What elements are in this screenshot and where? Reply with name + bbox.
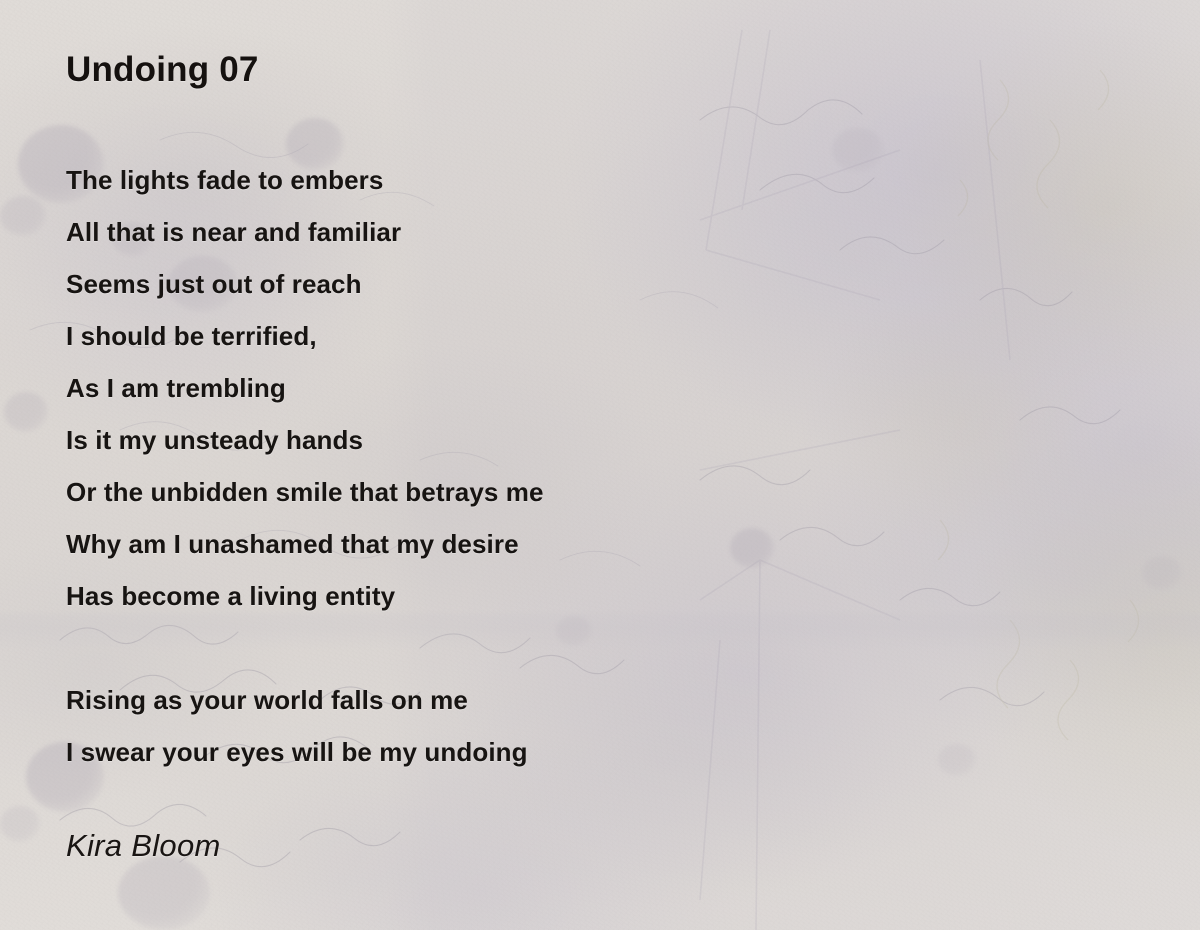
poem-body: The lights fade to embersAll that is nea…: [66, 154, 1146, 778]
poem-line: Is it my unsteady hands: [66, 414, 1146, 466]
poem-line-blank: [66, 622, 1146, 674]
ink-blot-far-right: [1142, 556, 1182, 590]
ink-blot-upper-left-small: [0, 196, 46, 236]
poem-line: All that is near and familiar: [66, 206, 1146, 258]
poem-line: Seems just out of reach: [66, 258, 1146, 310]
poem-content: Undoing 07 The lights fade to embersAll …: [66, 48, 1146, 866]
poem-line: Why am I unashamed that my desire: [66, 518, 1146, 570]
poem-line: I swear your eyes will be my undoing: [66, 726, 1146, 778]
page-title: Undoing 07: [66, 48, 1146, 92]
poem-line: The lights fade to embers: [66, 154, 1146, 206]
ink-blot-left-edge: [4, 392, 48, 432]
poem-line: Has become a living entity: [66, 570, 1146, 622]
poem-line: I should be terrified,: [66, 310, 1146, 362]
poem-line: Or the unbidden smile that betrays me: [66, 466, 1146, 518]
poem-line: Rising as your world falls on me: [66, 674, 1146, 726]
ink-blot-bottom-left-sm: [0, 806, 40, 842]
poem-author: Kira Bloom: [66, 826, 1146, 866]
ink-blot-bottom-center: [118, 856, 210, 930]
poem-page: Undoing 07 The lights fade to embersAll …: [0, 0, 1200, 930]
poem-line: As I am trembling: [66, 362, 1146, 414]
